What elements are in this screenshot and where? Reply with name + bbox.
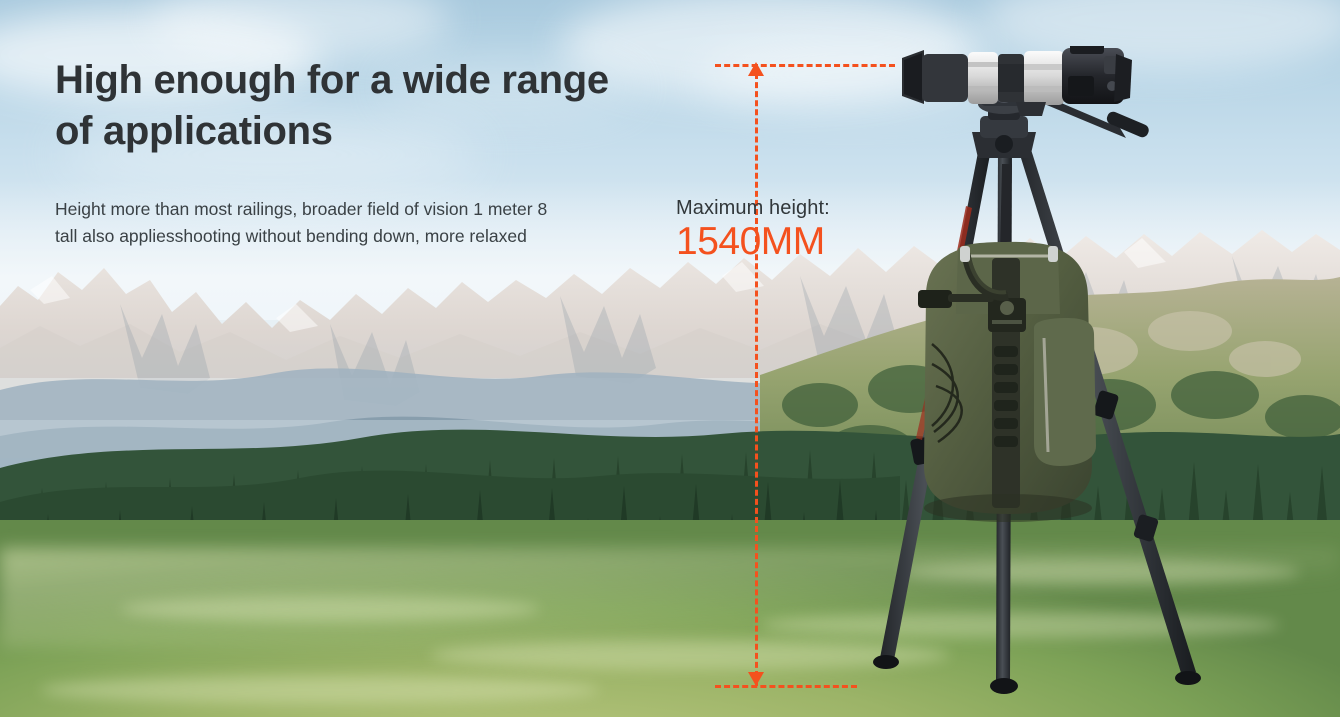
body-line-1: Height more than most railings, broader … [55, 196, 655, 223]
page-title: High enough for a wide range of applicat… [55, 55, 695, 157]
grass-highlight [40, 676, 600, 704]
body-copy: Height more than most railings, broader … [55, 196, 655, 250]
max-height-caption: Maximum height: [676, 196, 936, 220]
camera-with-telephoto-lens [902, 46, 1132, 116]
arrow-up-icon [748, 62, 764, 76]
max-height-label: Maximum height: 1540MM [676, 196, 936, 265]
arrow-down-icon [748, 672, 764, 686]
dimension-line-top [715, 64, 895, 67]
tripod-product-photo [820, 46, 1240, 706]
max-height-value: 1540MM [676, 220, 936, 265]
headline-line-2: of applications [55, 106, 695, 157]
dimension-line-bottom [715, 685, 857, 688]
backpack [918, 164, 1096, 522]
headline-line-1: High enough for a wide range [55, 55, 695, 106]
dimension-line-vertical [755, 64, 758, 686]
body-line-2: tall also appliesshooting without bendin… [55, 223, 655, 250]
grass-highlight [120, 596, 540, 622]
product-marketing-banner: Maximum height: 1540MM High enough for a… [0, 0, 1340, 717]
